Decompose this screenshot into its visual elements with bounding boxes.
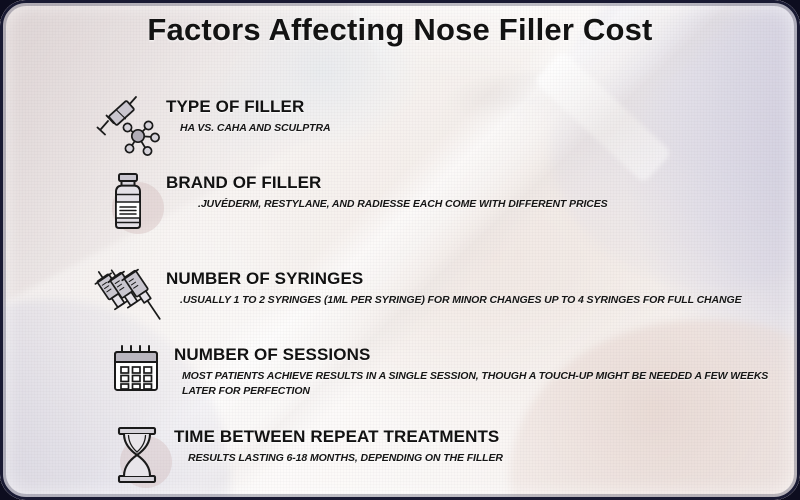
factor-row-type-of-filler: TYPE OF FILLER HA VS. CAHA AND SCULPTRA [92,96,330,158]
infographic-card: Factors Affecting Nose Filler Cost [0,0,800,500]
factor-text: BRAND OF FILLER .JUVÉDERM, RESTYLANE, AN… [166,172,608,212]
vial-icon [107,172,151,232]
icon-slot [100,426,174,484]
factor-title: BRAND OF FILLER [166,174,608,193]
factor-row-number-of-sessions: NUMBER OF SESSIONS MOST PATIENTS ACHIEVE… [100,344,782,399]
factor-description: RESULTS LASTING 6-18 MONTHS, DEPENDING O… [188,451,503,466]
multiple-syringes-icon [93,268,165,330]
factor-row-brand-of-filler: BRAND OF FILLER .JUVÉDERM, RESTYLANE, AN… [92,172,608,232]
factor-description: HA VS. CAHA AND SCULPTRA [180,121,330,136]
infographic-content: Factors Affecting Nose Filler Cost [0,0,800,500]
factor-title: NUMBER OF SYRINGES [166,270,741,289]
factor-text: TYPE OF FILLER HA VS. CAHA AND SCULPTRA [166,96,330,136]
syringe-molecule-icon [95,96,163,158]
factor-text: NUMBER OF SESSIONS MOST PATIENTS ACHIEVE… [174,344,782,399]
factor-title: TYPE OF FILLER [166,98,330,117]
factor-text: TIME BETWEEN REPEAT TREATMENTS RESULTS L… [174,426,503,466]
hourglass-icon [112,426,162,484]
icon-slot [92,96,166,158]
calendar-icon [110,344,164,396]
factor-description: .JUVÉDERM, RESTYLANE, AND RADIESSE EACH … [198,197,608,212]
factor-title: NUMBER OF SESSIONS [174,346,782,365]
icon-slot [100,344,174,396]
icon-slot [92,172,166,232]
icon-slot [92,268,166,330]
factor-row-time-between-treatments: TIME BETWEEN REPEAT TREATMENTS RESULTS L… [100,426,503,484]
factor-description: MOST PATIENTS ACHIEVE RESULTS IN A SINGL… [182,369,782,399]
factor-row-number-of-syringes: NUMBER OF SYRINGES .USUALLY 1 TO 2 SYRIN… [92,268,741,330]
factor-title: TIME BETWEEN REPEAT TREATMENTS [174,428,503,447]
page-title: Factors Affecting Nose Filler Cost [0,12,800,48]
factor-text: NUMBER OF SYRINGES .USUALLY 1 TO 2 SYRIN… [166,268,741,308]
factor-description: .USUALLY 1 TO 2 SYRINGES (1ML PER SYRING… [180,293,741,308]
